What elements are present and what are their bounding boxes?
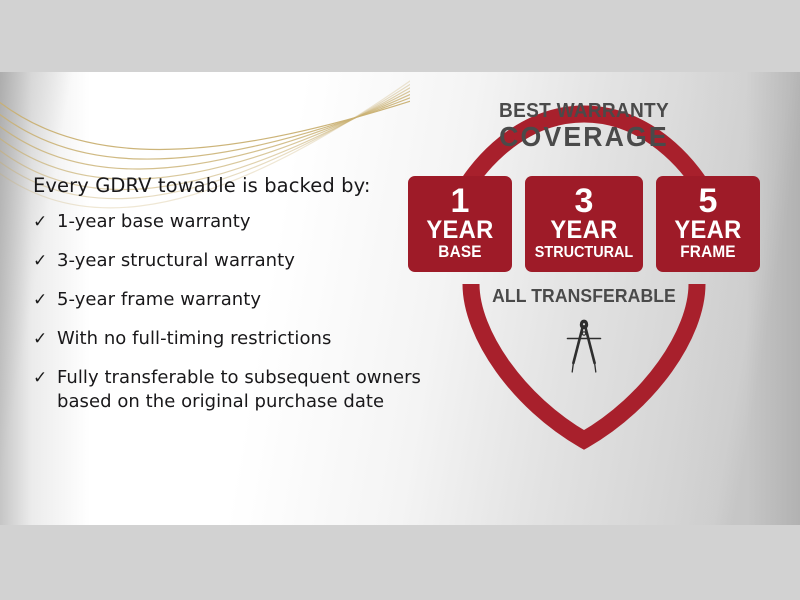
check-icon: ✓ xyxy=(33,249,57,273)
list-item: ✓ With no full-timing restrictions xyxy=(33,327,433,351)
list-item-label: With no full-timing restrictions xyxy=(57,327,331,351)
shield-outline-icon xyxy=(398,72,770,472)
copy-heading: Every GDRV towable is backed by: xyxy=(33,174,433,197)
warranty-graphic-panel: Every GDRV towable is backed by: ✓ 1-yea… xyxy=(0,72,800,525)
coverage-box-kind: BASE xyxy=(414,243,507,262)
check-icon: ✓ xyxy=(33,327,57,351)
screenshot-canvas: Every GDRV towable is backed by: ✓ 1-yea… xyxy=(0,0,800,600)
list-item: ✓ Fully transferable to subsequent owner… xyxy=(33,366,433,414)
coverage-box-number: 5 xyxy=(658,186,758,217)
list-item-label: 5-year frame warranty xyxy=(57,288,261,312)
list-item-label: Fully transferable to subsequent owners … xyxy=(57,366,433,414)
coverage-box-unit: YEAR xyxy=(530,217,638,243)
warranty-shield-badge: BEST WARRANTY COVERAGE 1 YEAR BASE 3 YEA… xyxy=(398,72,770,472)
coverage-box-number: 3 xyxy=(527,186,641,217)
list-item: ✓ 1-year base warranty xyxy=(33,210,433,234)
list-item: ✓ 3-year structural warranty xyxy=(33,249,433,273)
coverage-box-frame: 5 YEAR FRAME xyxy=(656,176,760,272)
list-item: ✓ 5-year frame warranty xyxy=(33,288,433,312)
coverage-box-unit: YEAR xyxy=(661,217,756,243)
check-icon: ✓ xyxy=(33,210,57,234)
check-icon: ✓ xyxy=(33,366,57,390)
coverage-box-kind: FRAME xyxy=(662,243,755,262)
coverage-box-group: 1 YEAR BASE 3 YEAR STRUCTURAL 5 YEAR FRA… xyxy=(408,176,760,272)
coverage-box-unit: YEAR xyxy=(413,217,508,243)
warranty-bullet-list: ✓ 1-year base warranty ✓ 3-year structur… xyxy=(33,210,433,414)
coverage-box-number: 1 xyxy=(410,186,510,217)
coverage-box-structural: 3 YEAR STRUCTURAL xyxy=(525,176,643,272)
warranty-copy-block: Every GDRV towable is backed by: ✓ 1-yea… xyxy=(33,174,433,414)
coverage-box-base: 1 YEAR BASE xyxy=(408,176,512,272)
list-item-label: 1-year base warranty xyxy=(57,210,251,234)
coverage-box-kind: STRUCTURAL xyxy=(533,243,636,262)
check-icon: ✓ xyxy=(33,288,57,312)
list-item-label: 3-year structural warranty xyxy=(57,249,295,273)
